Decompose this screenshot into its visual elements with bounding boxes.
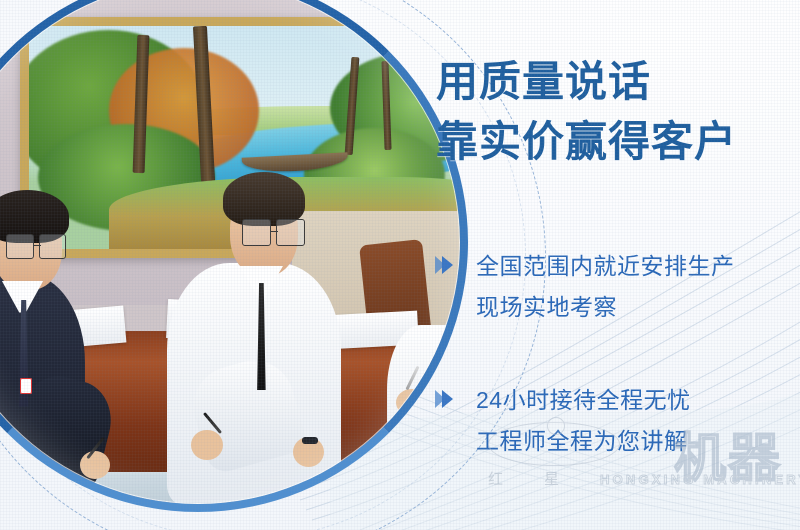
list-item-text: 24小时接待全程无忧 工程师全程为您讲解 (476, 380, 792, 462)
promo-banner: 用质量说话 靠实价赢得客户 全国范围内就近安排生产 现场实地考察 (0, 0, 800, 530)
content-column: 用质量说话 靠实价赢得客户 全国范围内就近安排生产 现场实地考察 (432, 0, 800, 530)
headline-line-2: 靠实价赢得客户 (436, 112, 737, 172)
list-item: 24小时接待全程无忧 工程师全程为您讲解 (432, 380, 792, 462)
list-item-text: 全国范围内就近安排生产 现场实地考察 (476, 246, 792, 328)
bullet-2-line-1: 24小时接待全程无忧 (476, 387, 691, 413)
bullet-1-line-2: 现场实地考察 (476, 287, 792, 328)
headline-line-1: 用质量说话 (436, 58, 651, 105)
list-item: 全国范围内就近安排生产 现场实地考察 (432, 246, 792, 328)
bullet-1-line-1: 全国范围内就近安排生产 (476, 253, 735, 279)
chevron-right-icon (432, 386, 458, 412)
chevron-right-icon (432, 252, 458, 278)
bullet-2-line-2: 工程师全程为您讲解 (476, 421, 792, 462)
headline: 用质量说话 靠实价赢得客户 (436, 52, 737, 172)
feature-list: 全国范围内就近安排生产 现场实地考察 24小时接待全程无忧 工程师全程为您讲解 (432, 246, 792, 462)
photo-circle (0, 0, 468, 512)
